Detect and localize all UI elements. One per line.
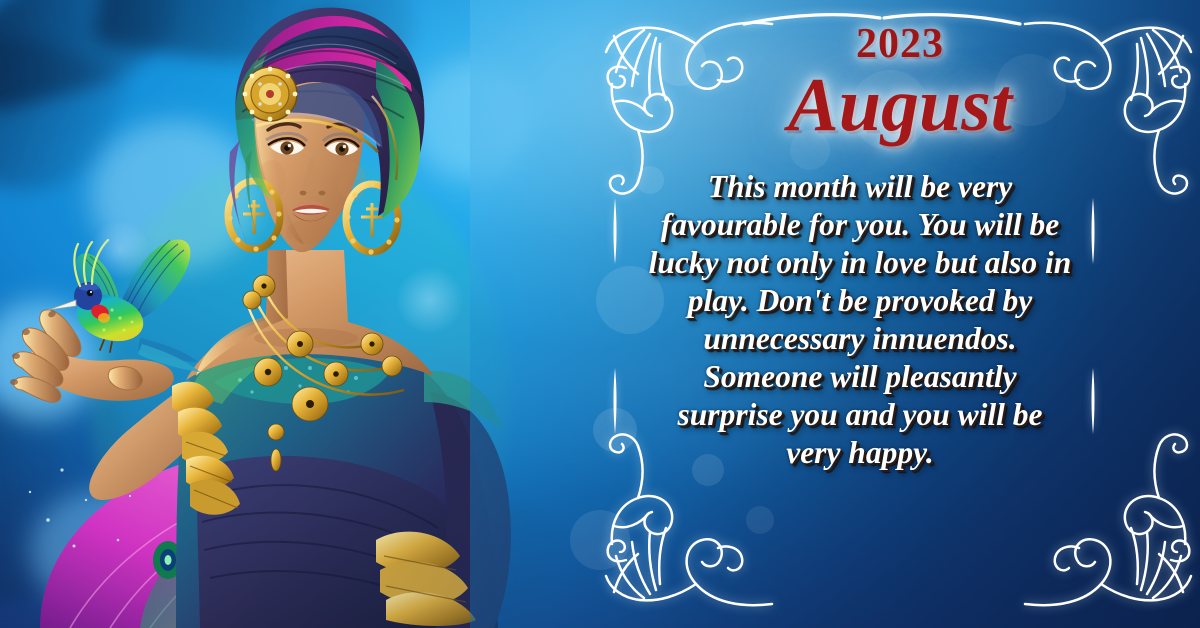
month-title: August xyxy=(600,62,1200,149)
horoscope-banner: 2023 August This month will be very favo… xyxy=(0,0,1200,628)
horoscope-text: This month will be very favourable for y… xyxy=(648,168,1072,472)
year-label: 2023 xyxy=(600,20,1200,68)
